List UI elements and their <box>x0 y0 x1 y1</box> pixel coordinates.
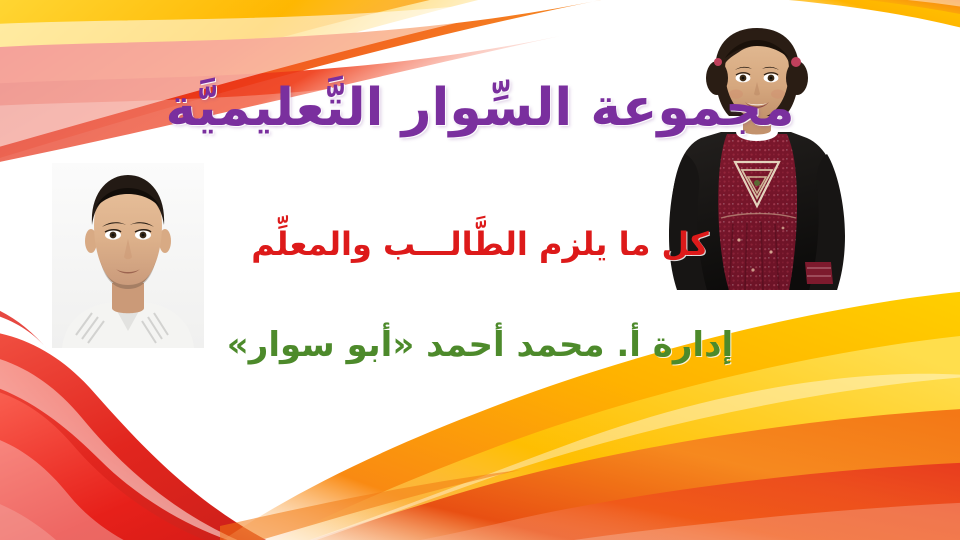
banner-canvas: مجموعة السِّوار التَّعليميَّة كل ما يلزم… <box>0 0 960 540</box>
bottom-right-wave-decoration <box>220 280 960 540</box>
banner-admin-credit: إدارة أ. محمد أحمد «أبو سوار» <box>0 328 960 362</box>
banner-main-title: مجموعة السِّوار التَّعليميَّة <box>0 82 960 134</box>
banner-subtitle: كل ما يلزم الطَّالـــب والمعلِّم <box>0 228 960 260</box>
